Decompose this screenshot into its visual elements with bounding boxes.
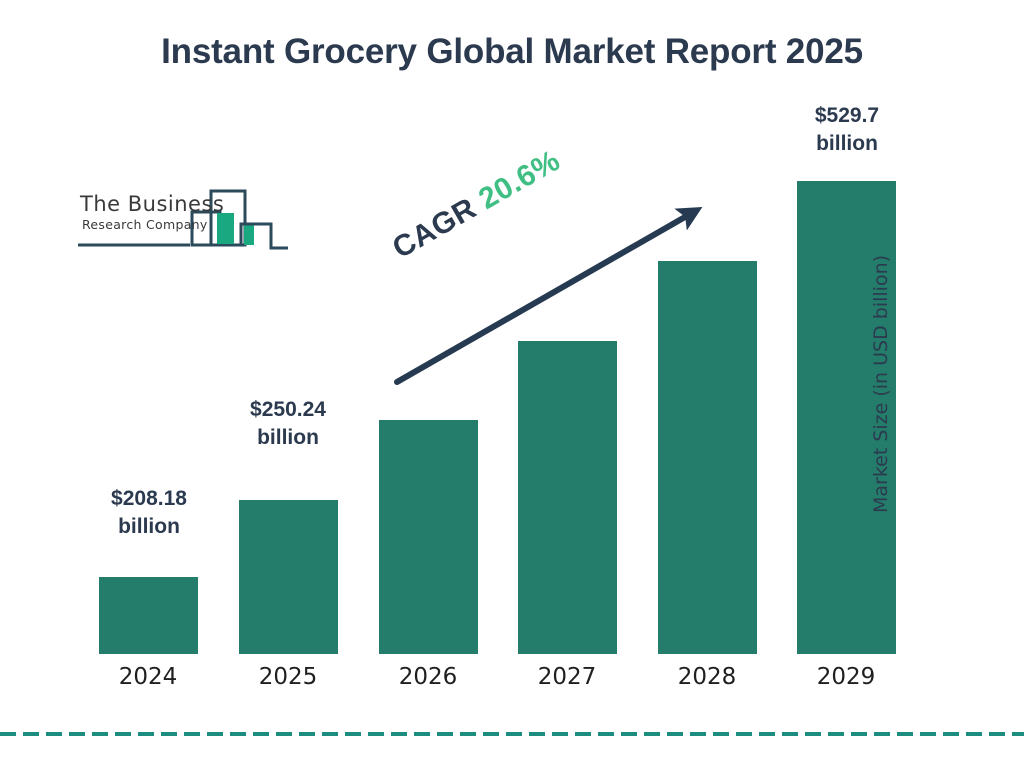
chart-canvas: Instant Grocery Global Market Report 202… — [0, 0, 1024, 768]
y-axis-title: Market Size (in USD billion) — [870, 255, 892, 513]
x-label-2028: 2028 — [647, 664, 767, 690]
x-label-2029: 2029 — [786, 664, 906, 690]
x-label-2027: 2027 — [507, 664, 627, 690]
footer-divider — [0, 732, 1024, 736]
x-label-2025: 2025 — [228, 664, 348, 690]
x-label-2026: 2026 — [368, 664, 488, 690]
x-label-2024: 2024 — [88, 664, 208, 690]
